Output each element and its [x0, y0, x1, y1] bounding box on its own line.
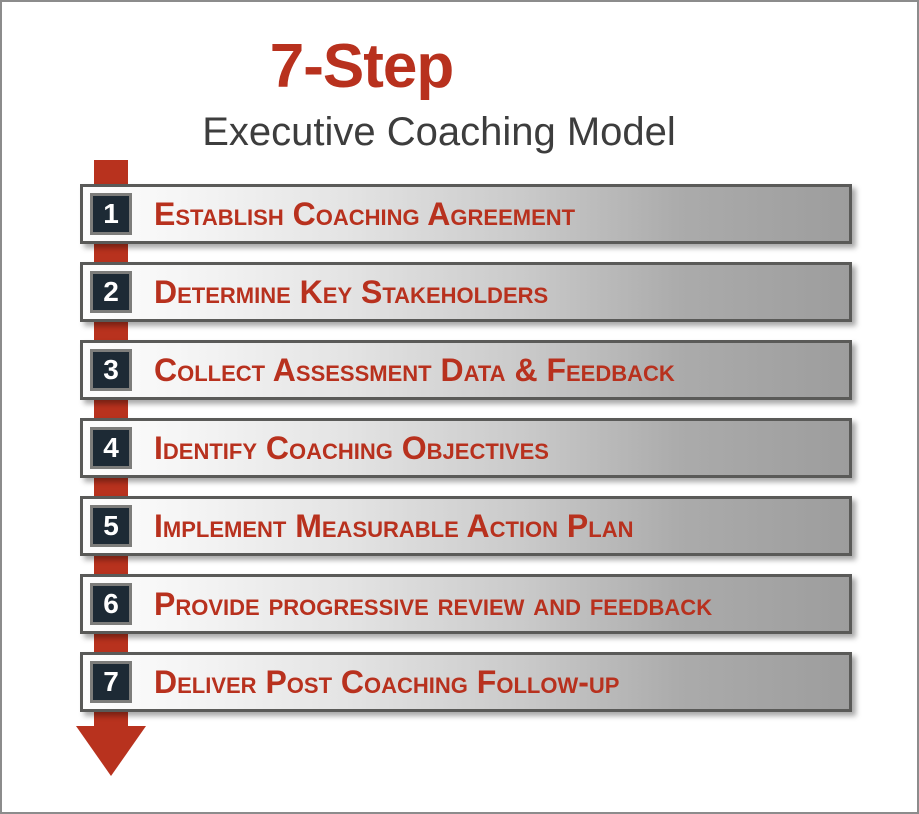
step-number-badge: 6 [90, 583, 132, 625]
step-row[interactable]: 1 Establish Coaching Agreement [80, 184, 852, 244]
step-number-badge: 2 [90, 271, 132, 313]
step-row[interactable]: 6 Provide progressive review and feedbac… [80, 574, 852, 634]
step-label: Collect Assessment Data & Feedback [154, 354, 675, 386]
step-row[interactable]: 7 Deliver Post Coaching Follow-up [80, 652, 852, 712]
page-title: 7-Step [0, 36, 919, 98]
step-number-badge: 3 [90, 349, 132, 391]
title-block: 7-Step Executive Coaching Model [2, 36, 919, 152]
process-arrow-head-icon [76, 726, 146, 776]
step-number-badge: 4 [90, 427, 132, 469]
step-label: Identify Coaching Objectives [154, 432, 549, 464]
step-number-badge: 5 [90, 505, 132, 547]
step-number-badge: 1 [90, 193, 132, 235]
step-row[interactable]: 4 Identify Coaching Objectives [80, 418, 852, 478]
step-list: 1 Establish Coaching Agreement 2 Determi… [80, 184, 852, 730]
step-label: Determine Key Stakeholders [154, 276, 548, 308]
step-label: Establish Coaching Agreement [154, 198, 575, 230]
step-label: Deliver Post Coaching Follow-up [154, 666, 619, 698]
step-row[interactable]: 3 Collect Assessment Data & Feedback [80, 340, 852, 400]
step-label: Implement Measurable Action Plan [154, 510, 633, 542]
diagram-canvas: 7-Step Executive Coaching Model 1 Establ… [0, 0, 919, 814]
step-label: Provide progressive review and feedback [154, 588, 712, 620]
step-row[interactable]: 5 Implement Measurable Action Plan [80, 496, 852, 556]
step-number-badge: 7 [90, 661, 132, 703]
page-subtitle: Executive Coaching Model [0, 112, 919, 152]
step-row[interactable]: 2 Determine Key Stakeholders [80, 262, 852, 322]
